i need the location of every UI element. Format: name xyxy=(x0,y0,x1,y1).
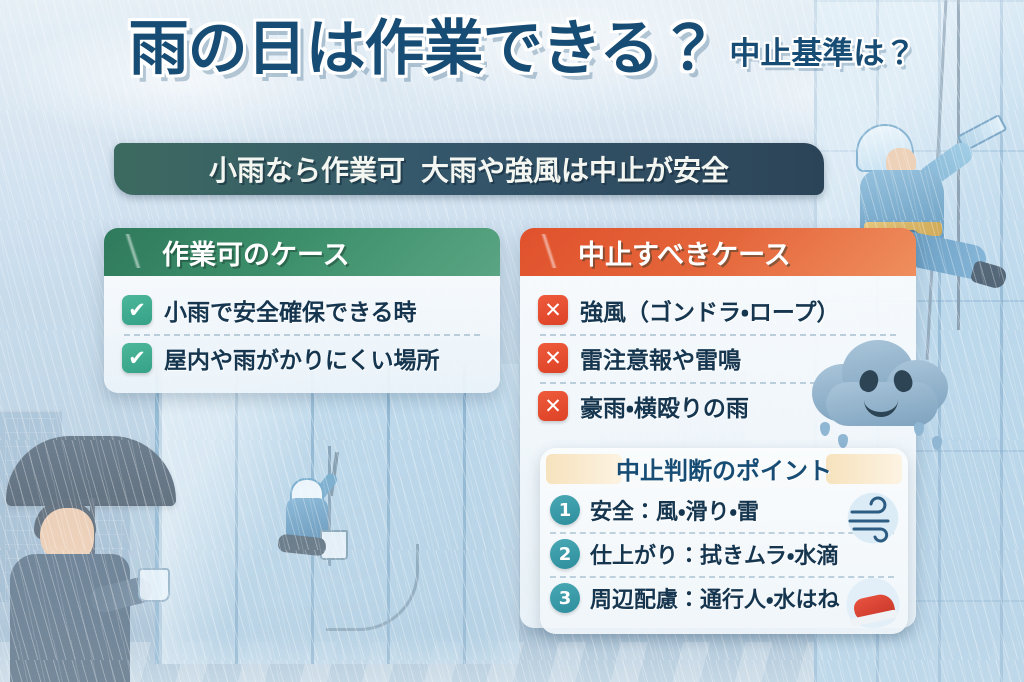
person-with-umbrella xyxy=(6,412,196,682)
page-subtitle: 中止基準は？ xyxy=(729,28,915,81)
infographic-canvas: 雨の日は作業できる？ 中止基準は？ 小雨なら作業可 大雨や強風は中止が安全 作業… xyxy=(0,0,1024,682)
list-item: ✔ 屋内や雨がかりにくい場所 xyxy=(118,334,486,382)
banner-text-right: 大雨や強風は中止が安全 xyxy=(421,149,729,189)
panel-header-ng: 中止すべきケース xyxy=(520,228,916,276)
panel-body-ok: ✔ 小雨で安全確保できる時 ✔ 屋内や雨がかりにくい場所 xyxy=(104,276,500,393)
shoe-splash-icon xyxy=(842,576,904,628)
step-number-badge: 1 xyxy=(550,495,580,525)
page-title: 雨の日は作業できる？ xyxy=(129,18,718,81)
list-item-label: 周辺配慮：通行人・水はね xyxy=(590,582,839,614)
points-heading: 中止判断のポイント xyxy=(616,451,832,486)
cross-icon: ✕ xyxy=(538,391,568,421)
banner-text-left: 小雨なら作業可 xyxy=(209,149,405,189)
cross-icon: ✕ xyxy=(538,343,568,373)
check-icon: ✔ xyxy=(122,295,152,325)
panel-header-ng-label: 中止すべきケース xyxy=(578,233,791,272)
panel-workable-cases: 作業可のケース ✔ 小雨で安全確保できる時 ✔ 屋内や雨がかりにくい場所 xyxy=(104,228,500,393)
list-item-label: 小雨で安全確保できる時 xyxy=(164,293,417,327)
rain-streak-icon xyxy=(536,234,562,268)
title-block: 雨の日は作業できる？ 中止基準は？ xyxy=(0,18,1024,81)
thunder-cloud-icon xyxy=(808,330,958,450)
rain-streak-icon xyxy=(120,234,146,268)
cross-icon: ✕ xyxy=(538,295,568,325)
list-item-label: 強風（ゴンドラ・ロープ） xyxy=(580,293,839,327)
panel-header-ok: 作業可のケース xyxy=(104,228,500,276)
list-item-label: 屋内や雨がかりにくい場所 xyxy=(164,341,440,375)
summary-banner: 小雨なら作業可 大雨や強風は中止が安全 xyxy=(114,143,824,195)
check-icon: ✔ xyxy=(122,343,152,373)
decision-points-card: 中止判断のポイント 1 安全：風・滑り・雷 2 仕上がり：拭きムラ・水滴 3 周… xyxy=(540,448,908,634)
step-number-badge: 3 xyxy=(550,583,580,613)
list-item: ✕ 強風（ゴンドラ・ロープ） xyxy=(534,286,902,334)
list-item-label: 雷注意報や雷鳴 xyxy=(580,341,741,375)
list-item-label: 安全：風・滑り・雷 xyxy=(590,494,759,526)
list-item-label: 豪雨・横殴りの雨 xyxy=(580,389,749,423)
list-item-label: 仕上がり：拭きムラ・水滴 xyxy=(590,538,838,570)
points-title-bar: 中止判断のポイント xyxy=(540,448,908,488)
list-item: ✔ 小雨で安全確保できる時 xyxy=(118,286,486,334)
window-cleaner-small-figure xyxy=(276,470,366,590)
panel-header-ok-label: 作業可のケース xyxy=(162,233,350,272)
step-number-badge: 2 xyxy=(550,539,580,569)
wind-icon xyxy=(844,492,902,544)
